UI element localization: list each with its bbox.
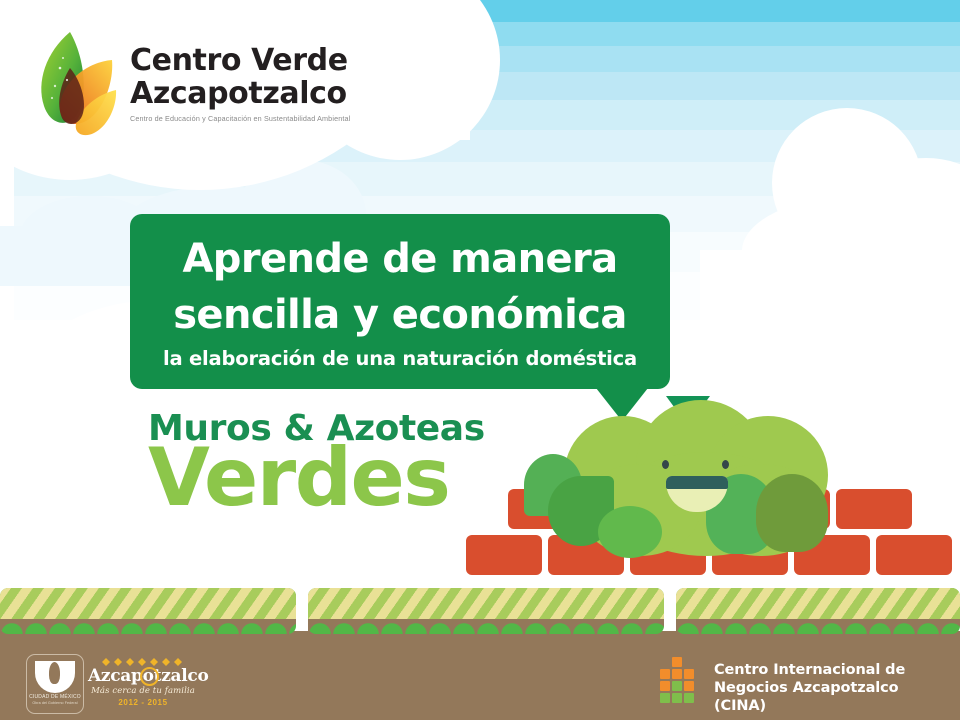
cina-block [660,681,670,691]
leaf-icon [756,474,828,552]
star-icon [150,658,158,662]
azcapotzalco-years: 2012 - 2015 [88,698,198,707]
cina-logo[interactable]: Centro Internacional de Negocios Azcapot… [658,655,938,707]
centro-verde-logo[interactable]: Centro Verde Azcapotzalco Centro de Educ… [26,28,356,146]
hedge-stripes [676,588,960,621]
bubble-line-1: Aprende de manera [130,236,670,282]
cina-block [684,669,694,679]
brick [876,535,952,575]
cina-block [660,669,670,679]
speech-bubble: Aprende de manera sencilla y económica l… [130,214,670,389]
star-icon [126,658,134,662]
star-icon [162,658,170,662]
leaf-icon [598,506,662,558]
hedge-row [0,588,960,634]
poster-canvas: Centro Verde Azcapotzalco Centro de Educ… [0,0,960,720]
hedge-scallop [676,619,960,634]
mascot-eye-left [662,460,669,469]
cina-block [672,669,682,679]
headline-line-2: Verdes [148,438,449,518]
star-icon [174,658,182,662]
cloud-base [700,250,960,320]
bubble-line-2: sencilla y económica [130,292,670,338]
star-icon [114,658,122,662]
cdmx-emblem[interactable]: CIUDAD DE MÉXICO Obra del Gobierno Feder… [26,654,84,714]
azcapotzalco-slogan: Más cerca de tu familia [88,686,198,696]
cina-text: Centro Internacional de Negocios Azcapot… [714,661,944,715]
hedge-stripes [308,588,664,621]
azcapotzalco-o-ring [140,667,159,686]
hedge-segment [308,588,664,634]
cina-line-1: Centro Internacional de [714,661,944,679]
hedge-scallop [0,619,296,634]
logo-tagline: Centro de Educación y Capacitación en Su… [130,114,380,123]
star-icon [138,658,146,662]
mascot-upper-lip [666,476,728,489]
cina-line-2: Negocios Azcapotzalco (CINA) [714,679,944,715]
azcapotzalco-logo[interactable]: Azcapotzalco Más cerca de tu familia 201… [88,656,198,710]
cdmx-label-1: CIUDAD DE MÉXICO [27,694,83,700]
star-icon [102,658,110,662]
hedge-segment [0,588,296,634]
cina-block [672,693,682,703]
cina-blocks-icon [658,657,704,703]
hedge-segment [676,588,960,634]
hedge-scallop [308,619,664,634]
logo-line-1: Centro Verde [130,44,380,77]
green-bush-mascot [520,398,850,568]
cdmx-eagle-icon [49,662,60,684]
cina-block [684,681,694,691]
bubble-line-3: la elaboración de una naturación domésti… [130,347,670,370]
cina-block [660,693,670,703]
logo-line-2: Azcapotzalco [130,77,380,110]
cina-block [672,657,682,667]
hedge-stripes [0,588,296,621]
cina-block [672,681,682,691]
logo-wordmark: Centro Verde Azcapotzalco Centro de Educ… [130,44,380,123]
leaf-logo-icon [26,28,118,138]
cina-block [684,693,694,703]
cdmx-label-2: Obra del Gobierno Federal [27,701,83,705]
mascot-eye-right [722,460,729,469]
